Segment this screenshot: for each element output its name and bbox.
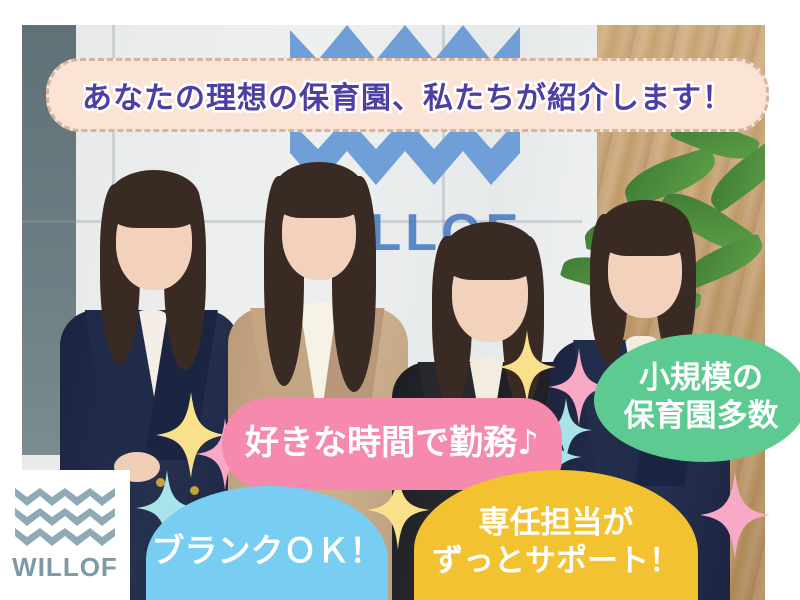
bubble-green-line-2: 保育園多数 (624, 398, 779, 434)
logo-waves-icon (15, 488, 115, 546)
bubble-blue-line-1: ブランクＯＫ！ (152, 531, 383, 571)
poster-canvas: WILLOF (0, 0, 800, 600)
bubble-small-nursery: 小規模の 保育園多数 (594, 334, 800, 462)
willof-logo: WILLOF (0, 470, 130, 600)
bubble-yellow-line-2: ずっとサポート！ (432, 543, 680, 579)
bubble-yellow-line-1: 専任担当が (479, 505, 634, 541)
bubble-green-line-1: 小規模の (639, 360, 763, 396)
headline-banner: あなたの理想の保育園、私たちが紹介します！ (46, 58, 769, 132)
sparkle-pink-right (700, 472, 770, 558)
bubble-pink-line-1: 好きな時間で勤務♪ (245, 423, 539, 464)
headline-text: あなたの理想の保育園、私たちが紹介します！ (82, 73, 733, 117)
logo-wordmark: WILLOF (12, 552, 118, 583)
